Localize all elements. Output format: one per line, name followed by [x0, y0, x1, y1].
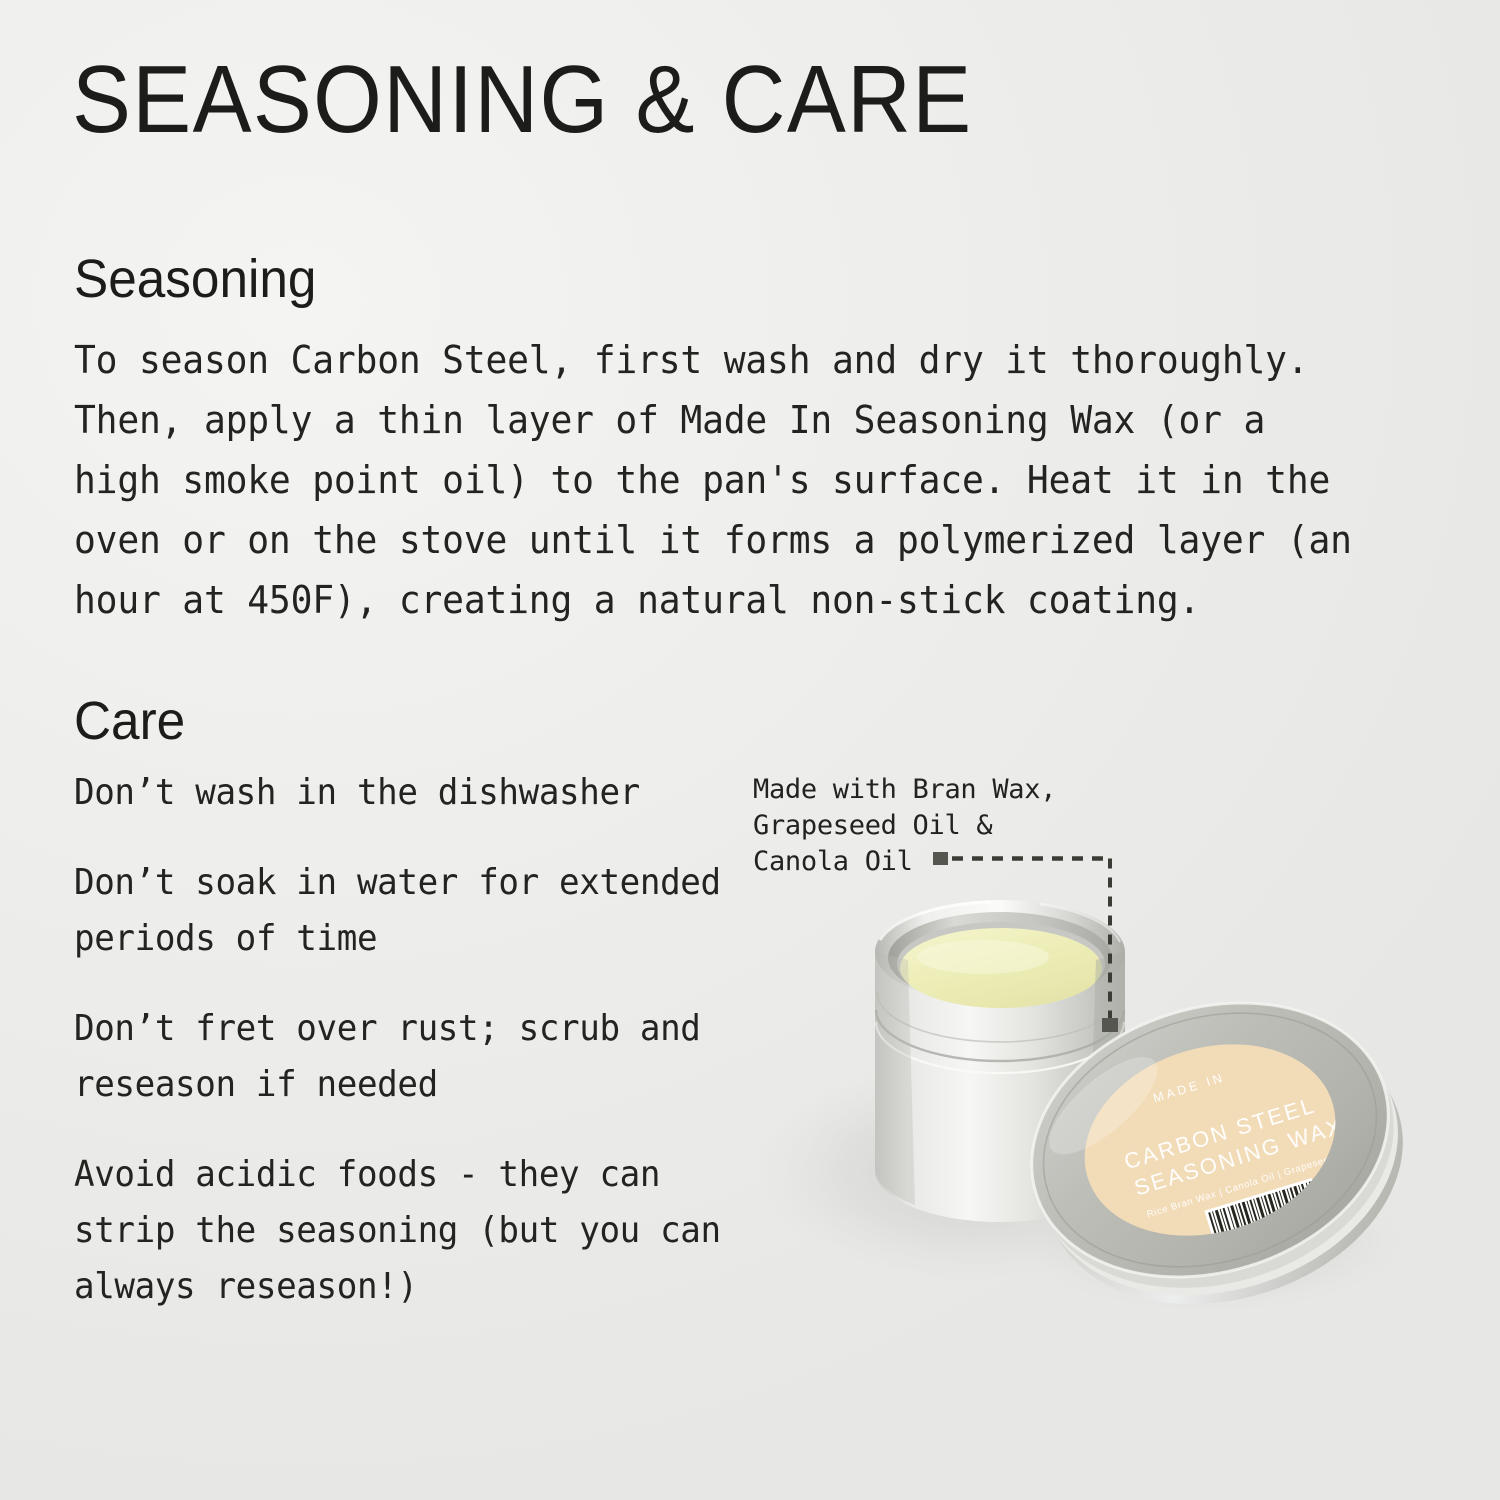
callout-text: Made with Bran Wax, Grapeseed Oil & Cano…	[753, 772, 1056, 880]
care-heading: Care	[74, 690, 185, 752]
page-title: SEASONING & CARE	[72, 52, 973, 148]
list-item: Don’t fret over rust; scrub and reseason…	[74, 1001, 739, 1113]
seasoning-wax-tin-illustration: MADE IN CARBON STEEL SEASONING WAX Rice …	[740, 840, 1480, 1310]
care-list: Don’t wash in the dishwasher Don’t soak …	[74, 765, 774, 1349]
seasoning-paragraph: To season Carbon Steel, first wash and d…	[74, 330, 1363, 630]
list-item: Don’t soak in water for extended periods…	[74, 855, 739, 967]
seasoning-heading: Seasoning	[74, 248, 316, 310]
product-image: MADE IN CARBON STEEL SEASONING WAX Rice …	[740, 840, 1480, 1310]
list-item: Avoid acidic foods - they can strip the …	[74, 1147, 739, 1315]
list-item: Don’t wash in the dishwasher	[74, 765, 739, 821]
